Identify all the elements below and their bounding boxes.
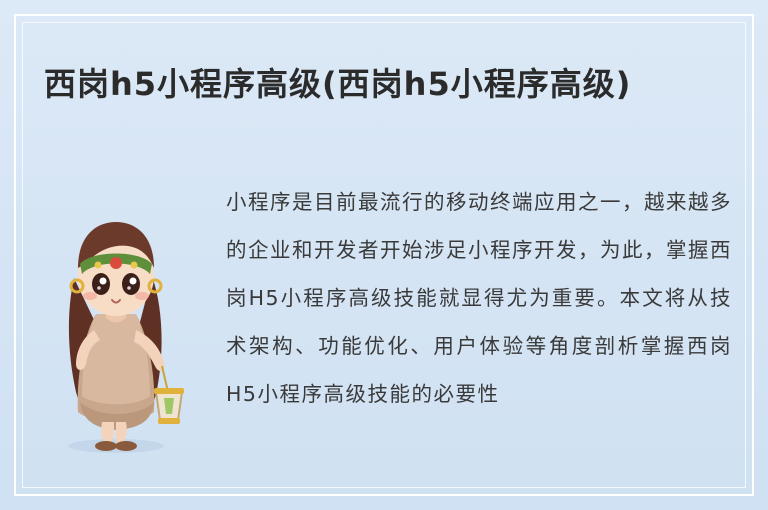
illustration-cartoon-girl xyxy=(44,206,212,456)
page-title: 西岗h5小程序高级(西岗h5小程序高级) xyxy=(44,62,734,106)
poster-card: 西岗h5小程序高级(西岗h5小程序高级) xyxy=(0,0,768,510)
article-body: 小程序是目前最流行的移动终端应用之一，越来越多的企业和开发者开始涉足小程序开发，… xyxy=(226,178,732,418)
